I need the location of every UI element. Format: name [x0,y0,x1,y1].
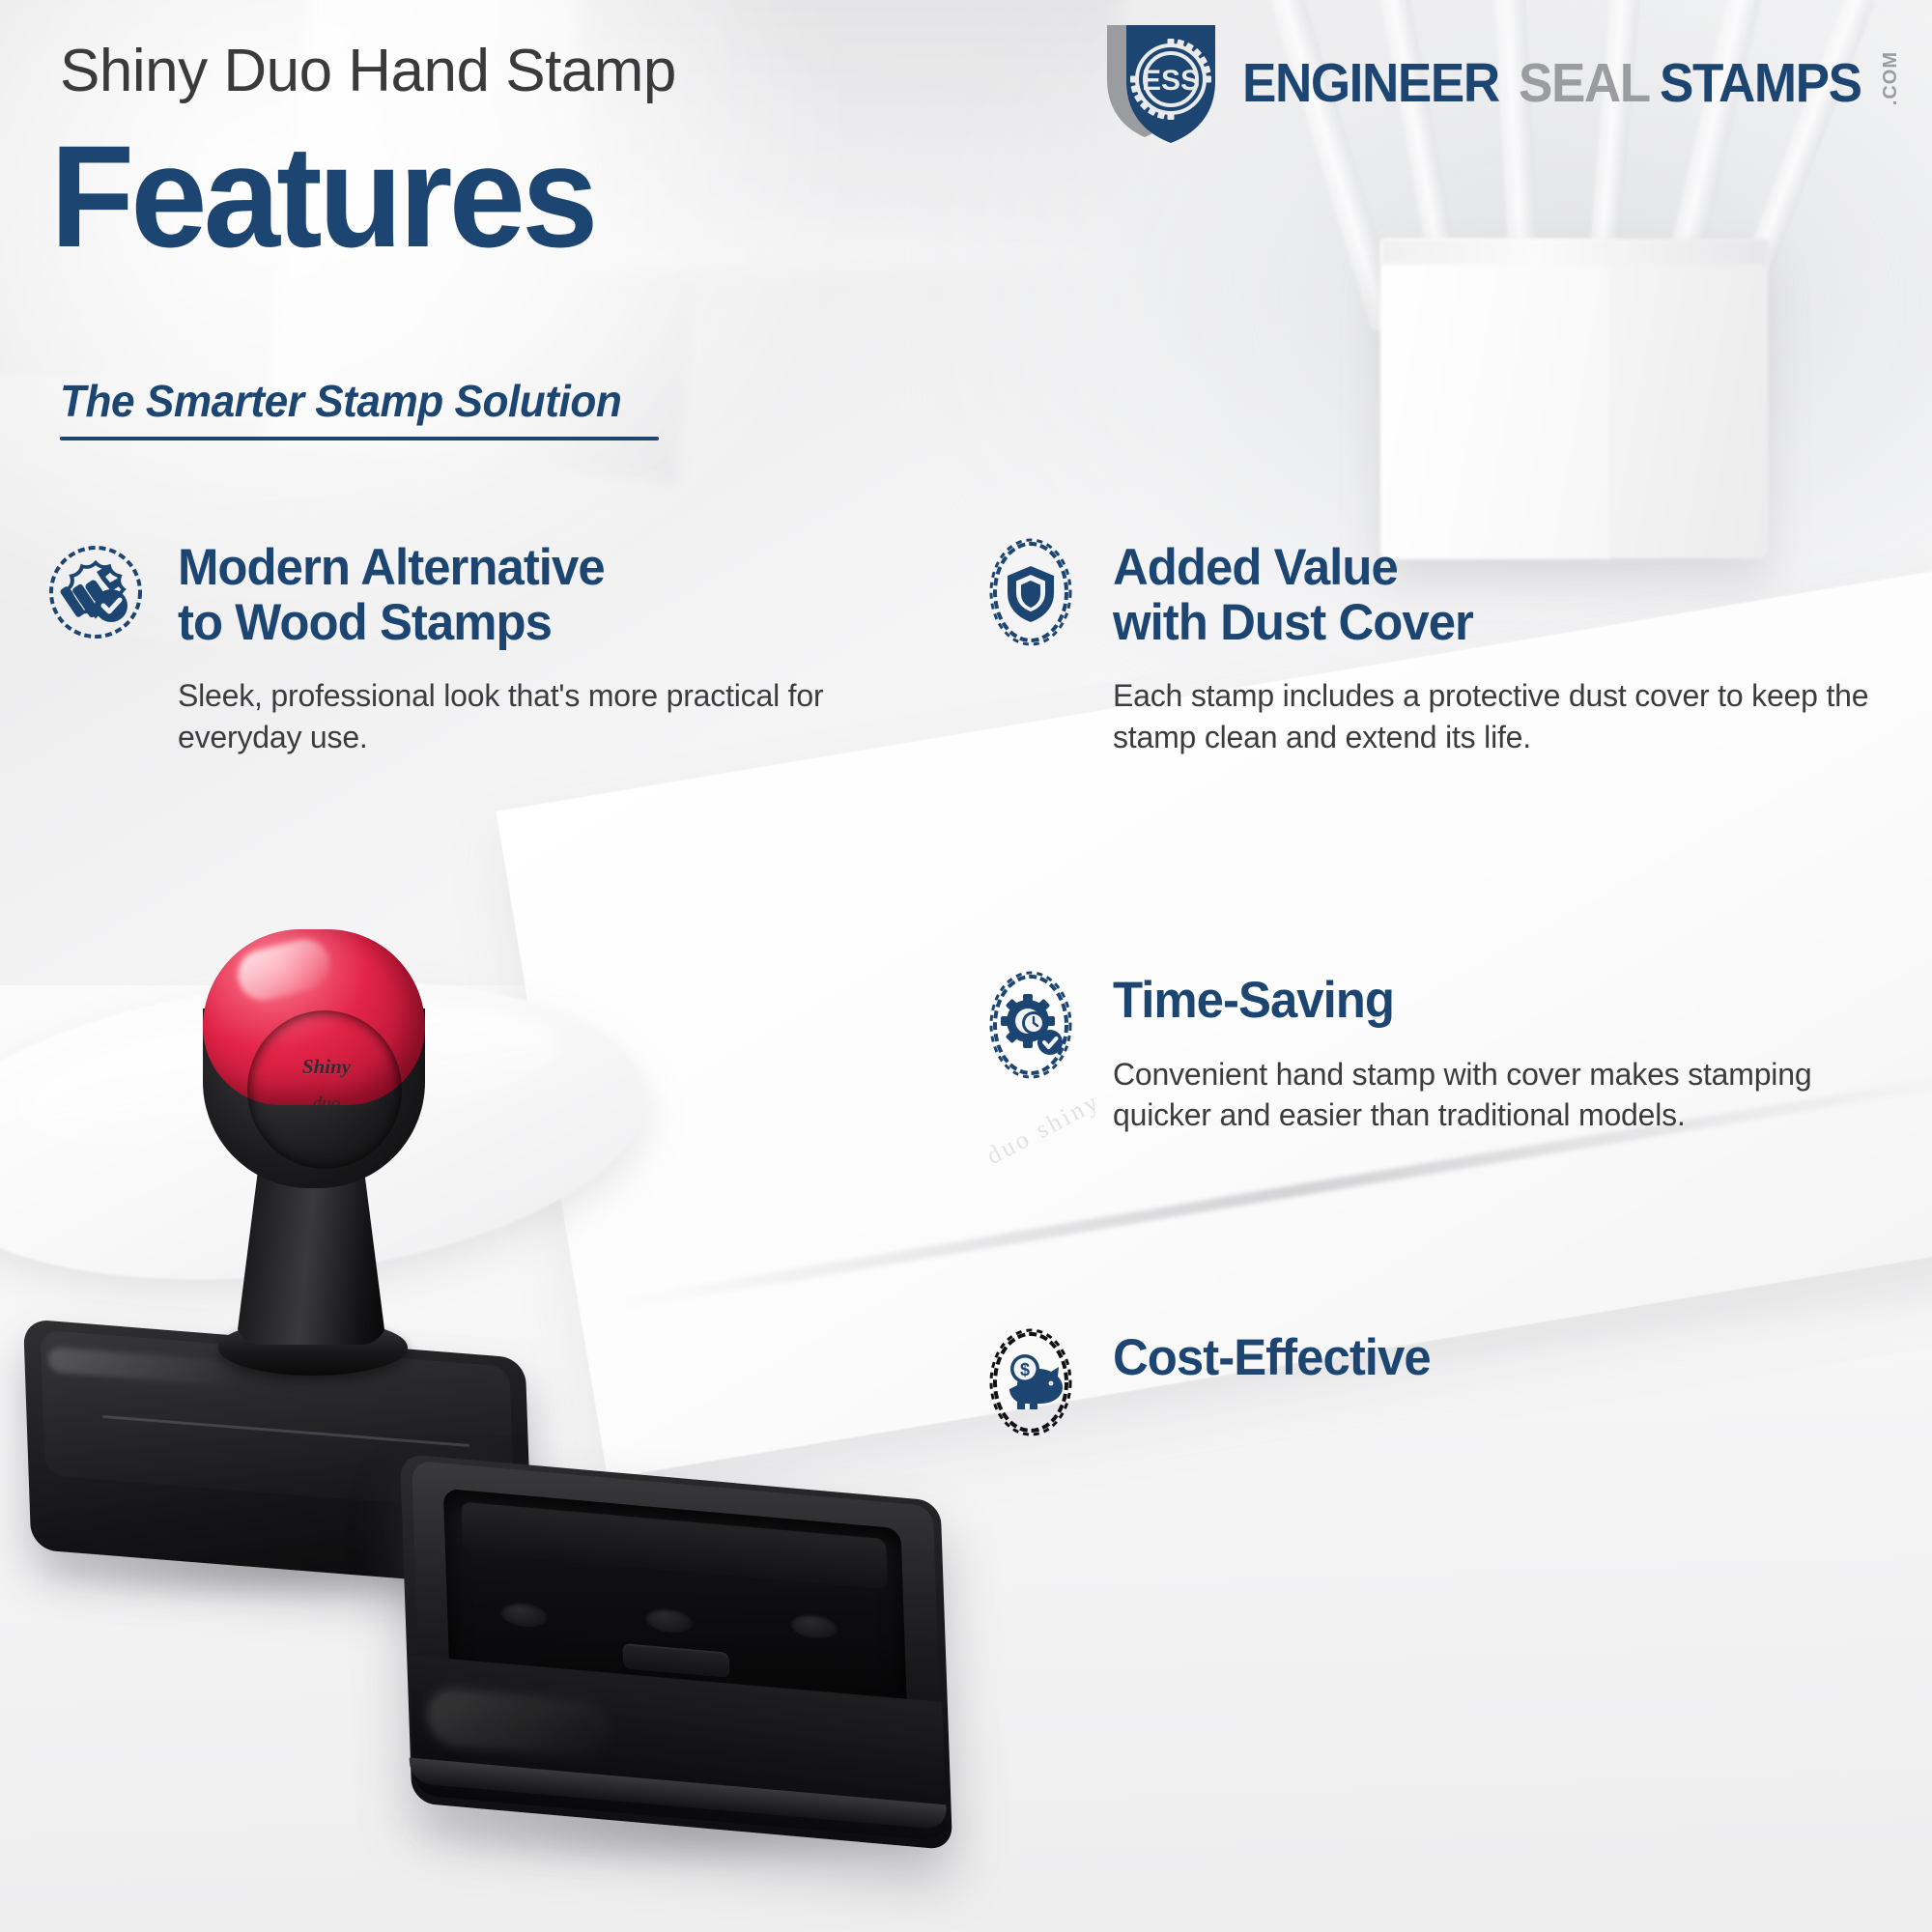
feature-item-cost-effective[interactable]: $ Cost-Effective [974,1323,1901,1439]
logo-word-seal: SEAL [1519,56,1650,111]
feature-title: Time-Saving [1113,974,1869,1029]
gear-clock-check-badge-icon [974,968,1088,1082]
features-heading: Features [50,124,595,269]
logo-word-engineer: ENGINEER [1242,56,1499,111]
feature-description: Convenient hand stamp with cover makes s… [1113,1054,1901,1136]
logo-word-tld: .COM [1880,51,1902,105]
subtitle-underline [60,437,659,440]
feature-description: Sleek, professional look that's more pra… [178,675,927,757]
feature-title: Added Value with Dust Cover [1113,541,1869,650]
feature-text-block: Modern Alternative to Wood Stamps Sleek,… [178,533,927,758]
feature-item-time-saving[interactable]: Time-Saving Convenient hand stamp with c… [974,966,1901,1136]
feature-text-block: Cost-Effective [1113,1323,1443,1439]
subtitle-text: The Smarter Stamp Solution [60,375,635,427]
feature-item-added-value[interactable]: Added Value with Dust Cover Each stamp i… [974,533,1901,758]
subtitle-block: The Smarter Stamp Solution [60,375,659,440]
tools-check-badge-icon [39,535,153,649]
feature-description: Each stamp includes a protective dust co… [1113,675,1901,757]
shield-badge-icon [974,535,1088,649]
brand-logo[interactable]: ESS ENGINEER SEAL STAMPS .COM [1101,17,1902,145]
ess-shield-icon: ESS [1101,17,1229,145]
feature-title: Modern Alternative to Wood Stamps [178,541,897,650]
ess-emblem-text: ESS [1142,65,1200,97]
logo-word-stamps: STAMPS [1660,56,1861,111]
svg-text:$: $ [1020,1360,1030,1379]
feature-title: Cost-Effective [1113,1331,1431,1386]
feature-text-block: Time-Saving Convenient hand stamp with c… [1113,966,1901,1136]
page-title: Shiny Duo Hand Stamp [60,37,676,105]
piggy-bank-badge-icon: $ [974,1325,1088,1439]
feature-text-block: Added Value with Dust Cover Each stamp i… [1113,533,1901,758]
feature-item-modern-alternative[interactable]: Modern Alternative to Wood Stamps Sleek,… [39,533,927,758]
